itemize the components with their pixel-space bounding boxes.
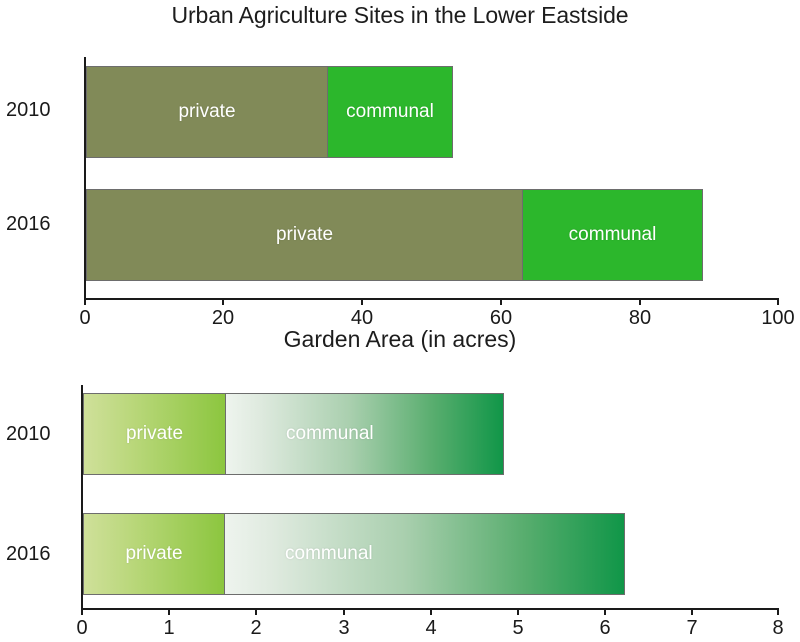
- chart-top-bar-2010-segment-private[interactable]: private: [86, 66, 328, 158]
- chart-bottom-tick-label-0: 0: [76, 617, 87, 640]
- chart-top-bar-2010[interactable]: private communal: [86, 66, 453, 158]
- chart-top-year-label-2016: 2016: [6, 213, 51, 236]
- chart-top-tick-20: [222, 298, 224, 305]
- chart-top-tick-40: [361, 298, 363, 305]
- chart-bottom-tick-label-3: 3: [338, 617, 349, 640]
- chart-bottom-x-axis: 0 1 2 3 4 5 6 7 8: [81, 608, 779, 610]
- chart-top-bar-2010-segment-communal[interactable]: communal: [327, 66, 453, 158]
- chart-bottom-tick-label-8: 8: [772, 617, 783, 640]
- chart-bottom-tick-7: [691, 608, 693, 615]
- chart-bottom-tick-0: [81, 608, 83, 615]
- segment-label-private: private: [126, 423, 183, 445]
- chart-bottom-tick-4: [430, 608, 432, 615]
- x-axis-caption: Garden Area (in acres): [0, 326, 800, 353]
- chart-top-year-label-2010: 2010: [6, 99, 51, 122]
- chart-bottom-tick-label-5: 5: [512, 617, 523, 640]
- chart-bottom-tick-label-6: 6: [599, 617, 610, 640]
- chart-top-tick-100: [777, 298, 779, 305]
- chart-bottom-bar-2010-segment-communal[interactable]: communal: [225, 393, 504, 475]
- segment-label-private: private: [276, 224, 333, 246]
- chart-bottom-tick-8: [777, 608, 779, 615]
- chart-bottom-tick-3: [343, 608, 345, 615]
- segment-label-private: private: [125, 543, 182, 565]
- chart-bottom-tick-label-7: 7: [686, 617, 697, 640]
- chart-top-tick-0: [84, 298, 86, 305]
- chart-bottom-tick-1: [168, 608, 170, 615]
- chart-top-tick-60: [500, 298, 502, 305]
- chart-bottom-bar-2016[interactable]: private communal: [83, 513, 625, 595]
- chart-bottom-bar-2010-segment-private[interactable]: private: [83, 393, 226, 475]
- segment-label-communal: communal: [285, 543, 373, 565]
- chart-bottom-bar-2016-segment-private[interactable]: private: [83, 513, 225, 595]
- chart-bottom-tick-label-1: 1: [163, 617, 174, 640]
- chart-bottom-bar-2010[interactable]: private communal: [83, 393, 504, 475]
- segment-label-communal: communal: [346, 101, 434, 123]
- chart-bottom-tick-6: [604, 608, 606, 615]
- chart-top-bar-2016-segment-communal[interactable]: communal: [522, 189, 703, 281]
- chart-bottom-bar-2016-segment-communal[interactable]: communal: [224, 513, 625, 595]
- chart-bottom-year-label-2010: 2010: [6, 423, 51, 446]
- chart-top-bar-2016[interactable]: private communal: [86, 189, 703, 281]
- segment-label-communal: communal: [286, 423, 374, 445]
- chart-bottom-tick-label-2: 2: [250, 617, 261, 640]
- chart-top-tick-80: [639, 298, 641, 305]
- chart-bottom-tick-label-4: 4: [425, 617, 436, 640]
- chart-bottom-tick-2: [255, 608, 257, 615]
- chart-top-bar-2016-segment-private[interactable]: private: [86, 189, 523, 281]
- page-title: Urban Agriculture Sites in the Lower Eas…: [0, 2, 800, 29]
- chart-top-x-axis: 0 20 40 60 80 100: [84, 298, 779, 300]
- segment-label-communal: communal: [569, 224, 657, 246]
- segment-label-private: private: [178, 101, 235, 123]
- chart-bottom-tick-5: [517, 608, 519, 615]
- chart-bottom-year-label-2016: 2016: [6, 543, 51, 566]
